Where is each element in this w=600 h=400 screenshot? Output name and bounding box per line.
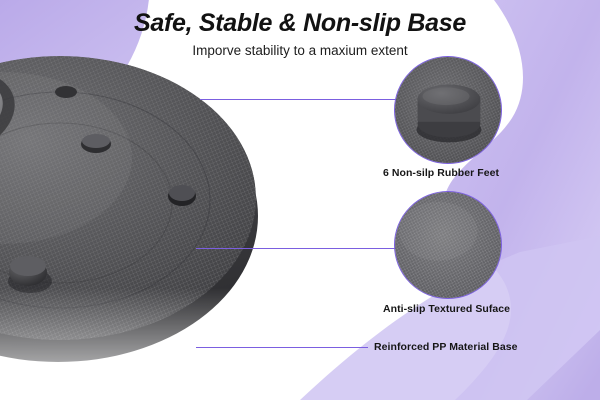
- product-infographic: Safe, Stable & Non-slip Base Imporve sta…: [0, 0, 600, 400]
- leader-line-base: [196, 347, 368, 348]
- caption-rubber-feet: 6 Non-silp Rubber Feet: [383, 167, 499, 179]
- callout-photo-rubber-foot: [394, 56, 502, 164]
- caption-textured-surface: Anti-slip Textured Suface: [383, 303, 510, 315]
- leader-line-texture: [196, 248, 416, 249]
- leader-line-feet: [200, 99, 415, 100]
- header-block: Safe, Stable & Non-slip Base Imporve sta…: [0, 8, 600, 59]
- page-title: Safe, Stable & Non-slip Base: [0, 8, 600, 38]
- page-subtitle: Imporve stability to a maxium extent: [0, 42, 600, 59]
- product-bottom-fade: [0, 288, 302, 388]
- caption-pp-material-base: Reinforced PP Material Base: [374, 341, 518, 353]
- rubber-foot-right: [168, 185, 196, 206]
- callout-photo-textured-surface: [394, 191, 502, 299]
